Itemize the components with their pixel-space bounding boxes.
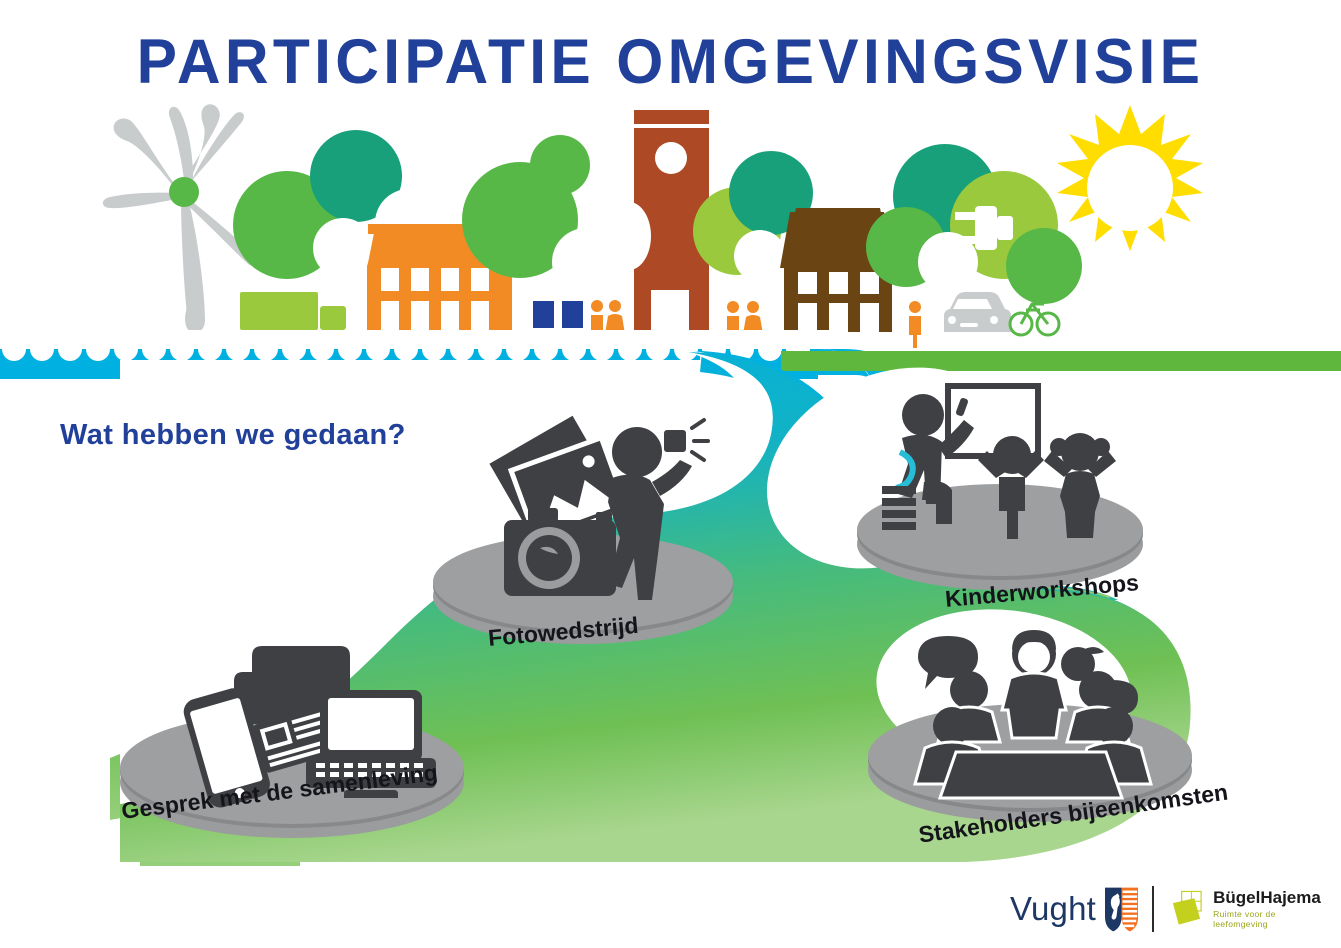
poster-canvas: PARTICIPATIE OMGEVINGSVISIE Wat hebben w… [0,0,1341,948]
bugelhajema-square-icon [1168,889,1205,929]
footer-logos: Vught BügelHajema [1010,878,1330,940]
platform-kinderworkshops[interactable] [857,386,1143,590]
bugelhajema-tagline: Ruimte voor de leefomgeving [1213,909,1330,929]
vught-coat-of-arms-icon [1105,887,1138,932]
page-title: PARTICIPATIE OMGEVINGSVISIE [27,26,1314,98]
bugelhajema-name: BügelHajema [1213,889,1330,907]
platform-fotowedstrijd[interactable] [433,416,733,644]
meeting-group-icon [915,630,1151,798]
bugelhajema-text: BügelHajema Ruimte voor de leefomgeving [1213,889,1330,930]
section-question: Wat hebben we gedaan? [60,419,406,452]
vught-wordmark: Vught [1010,890,1096,928]
logo-divider [1152,886,1154,932]
